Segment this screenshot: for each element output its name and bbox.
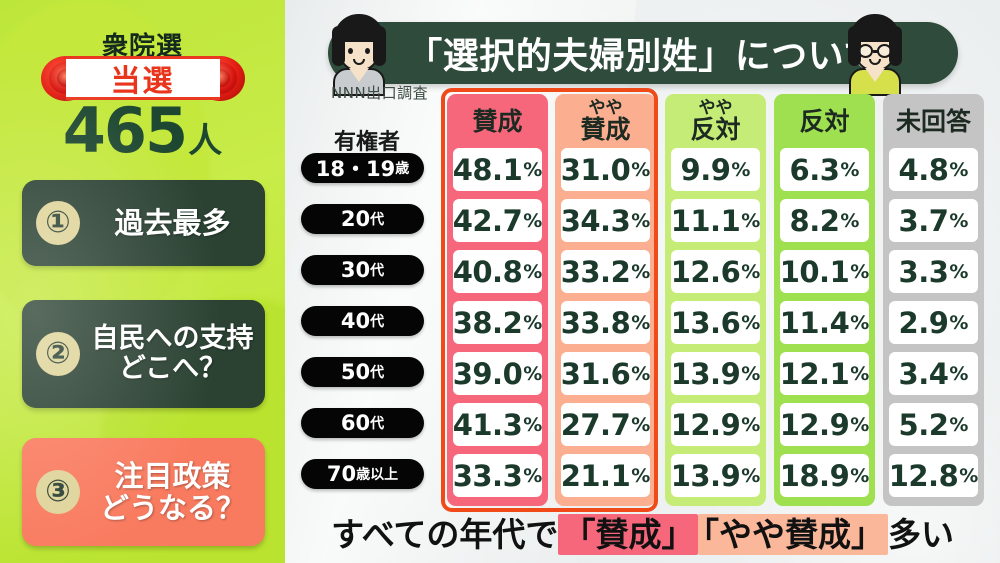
cell-yaya-sansei-60s: 27.7%	[561, 403, 650, 446]
cell-mikaito-30s: 3.3%	[889, 250, 978, 293]
cell-hantai-40s: 11.4%	[780, 301, 869, 344]
caption-part-2: 多い	[888, 515, 954, 554]
cell-sansei-30s: 40.8%	[453, 250, 542, 293]
cell-sansei-50s: 39.0%	[453, 352, 542, 395]
column-header-mikaito: 未回答	[883, 94, 984, 148]
cell-yaya-sansei-40s: 33.8%	[561, 301, 650, 344]
row-header-label: 有権者	[307, 124, 427, 156]
cell-sansei-40s: 38.2%	[453, 301, 542, 344]
column-yaya-hantai: やや 反対 9.9% 11.1% 12.6% 13.6% 13.9% 12.9%…	[665, 94, 766, 506]
cell-mikaito-50s: 3.4%	[889, 352, 978, 395]
cell-yaya-hantai-30s: 12.6%	[671, 250, 760, 293]
survey-table: 有権者 18・19歳 20代 30代 40代 50代 60代 70歳以上	[285, 0, 1000, 563]
left-sidebar: 衆院選 当選 465人 ① 過去最多 ② 自民への支持 どこ	[0, 0, 285, 563]
cell-mikaito-60s: 5.2%	[889, 403, 978, 446]
topic-number-1: ①	[36, 201, 80, 245]
cell-yaya-hantai-70-plus: 13.9%	[671, 454, 760, 497]
column-sansei: 賛成 48.1% 42.7% 40.8% 38.2% 39.0% 41.3% 3…	[447, 94, 548, 506]
cell-yaya-sansei-30s: 33.2%	[561, 250, 650, 293]
cell-yaya-hantai-20s: 11.1%	[671, 199, 760, 242]
column-mikaito: 未回答 4.8% 3.7% 3.3% 2.9% 3.4% 5.2% 12.8%	[883, 94, 984, 506]
topic-label-2: 自民への支持 どこへ？	[80, 324, 265, 384]
cell-yaya-sansei-18-19: 31.0%	[561, 148, 650, 191]
age-pill-70-plus: 70歳以上	[301, 459, 424, 489]
caption-highlight-yaya-sansei: 「やや賛成」	[698, 514, 888, 555]
cell-yaya-hantai-40s: 13.6%	[671, 301, 760, 344]
cell-sansei-18-19: 48.1%	[453, 148, 542, 191]
cell-hantai-18-19: 6.3%	[780, 148, 869, 191]
column-header-yaya-sansei: やや 賛成	[555, 94, 656, 148]
age-pill-20s: 20代	[301, 204, 424, 234]
cell-hantai-60s: 12.9%	[780, 403, 869, 446]
cell-mikaito-70-plus: 12.8%	[889, 454, 978, 497]
column-header-sansei: 賛成	[447, 94, 548, 148]
cell-yaya-sansei-50s: 31.6%	[561, 352, 650, 395]
topic-card-1[interactable]: ① 過去最多	[22, 180, 265, 266]
cell-mikaito-18-19: 4.8%	[889, 148, 978, 191]
cell-sansei-70-plus: 33.3%	[453, 454, 542, 497]
winner-count-number: 465	[63, 94, 186, 167]
main-content: 「選択的夫婦別姓」について	[285, 0, 1000, 563]
cell-sansei-20s: 42.7%	[453, 199, 542, 242]
column-header-hantai: 反対	[774, 94, 875, 148]
column-header-yaya-hantai: やや 反対	[665, 94, 766, 148]
age-pill-30s: 30代	[301, 255, 424, 285]
cell-hantai-70-plus: 18.9%	[780, 454, 869, 497]
cell-sansei-60s: 41.3%	[453, 403, 542, 446]
topic-card-2[interactable]: ② 自民への支持 どこへ？	[22, 300, 265, 408]
topic-label-1: 過去最多	[80, 207, 265, 239]
topic-number-2: ②	[36, 332, 80, 376]
age-pill-50s: 50代	[301, 357, 424, 387]
winner-count: 465人	[0, 100, 285, 162]
news-graphic-root: 衆院選 当選 465人 ① 過去最多 ② 自民への支持 どこ	[0, 0, 1000, 563]
cell-mikaito-20s: 3.7%	[889, 199, 978, 242]
cell-yaya-hantai-50s: 13.9%	[671, 352, 760, 395]
topic-label-3: 注目政策 どうなる？	[80, 460, 265, 525]
cell-yaya-sansei-20s: 34.3%	[561, 199, 650, 242]
cell-yaya-hantai-60s: 12.9%	[671, 403, 760, 446]
cell-hantai-50s: 12.1%	[780, 352, 869, 395]
column-hantai: 反対 6.3% 8.2% 10.1% 11.4% 12.1% 12.9% 18.…	[774, 94, 875, 506]
caption-part-1: すべての年代で	[331, 515, 558, 554]
cell-yaya-hantai-18-19: 9.9%	[671, 148, 760, 191]
winner-count-unit: 人	[188, 121, 222, 161]
age-pill-18-19: 18・19歳	[301, 153, 424, 183]
summary-caption: すべての年代で「賛成」「やや賛成」多い	[285, 508, 1000, 556]
cell-hantai-30s: 10.1%	[780, 250, 869, 293]
caption-highlight-sansei: 「賛成」	[558, 514, 698, 555]
cell-yaya-sansei-70-plus: 21.1%	[561, 454, 650, 497]
age-pill-60s: 60代	[301, 408, 424, 438]
topic-card-3[interactable]: ③ 注目政策 どうなる？	[22, 438, 265, 546]
age-pill-40s: 40代	[301, 306, 424, 336]
cell-hantai-20s: 8.2%	[780, 199, 869, 242]
cell-mikaito-40s: 2.9%	[889, 301, 978, 344]
topic-number-3: ③	[36, 470, 80, 514]
column-yaya-sansei: やや 賛成 31.0% 34.3% 33.2% 33.8% 31.6% 27.7…	[555, 94, 656, 506]
